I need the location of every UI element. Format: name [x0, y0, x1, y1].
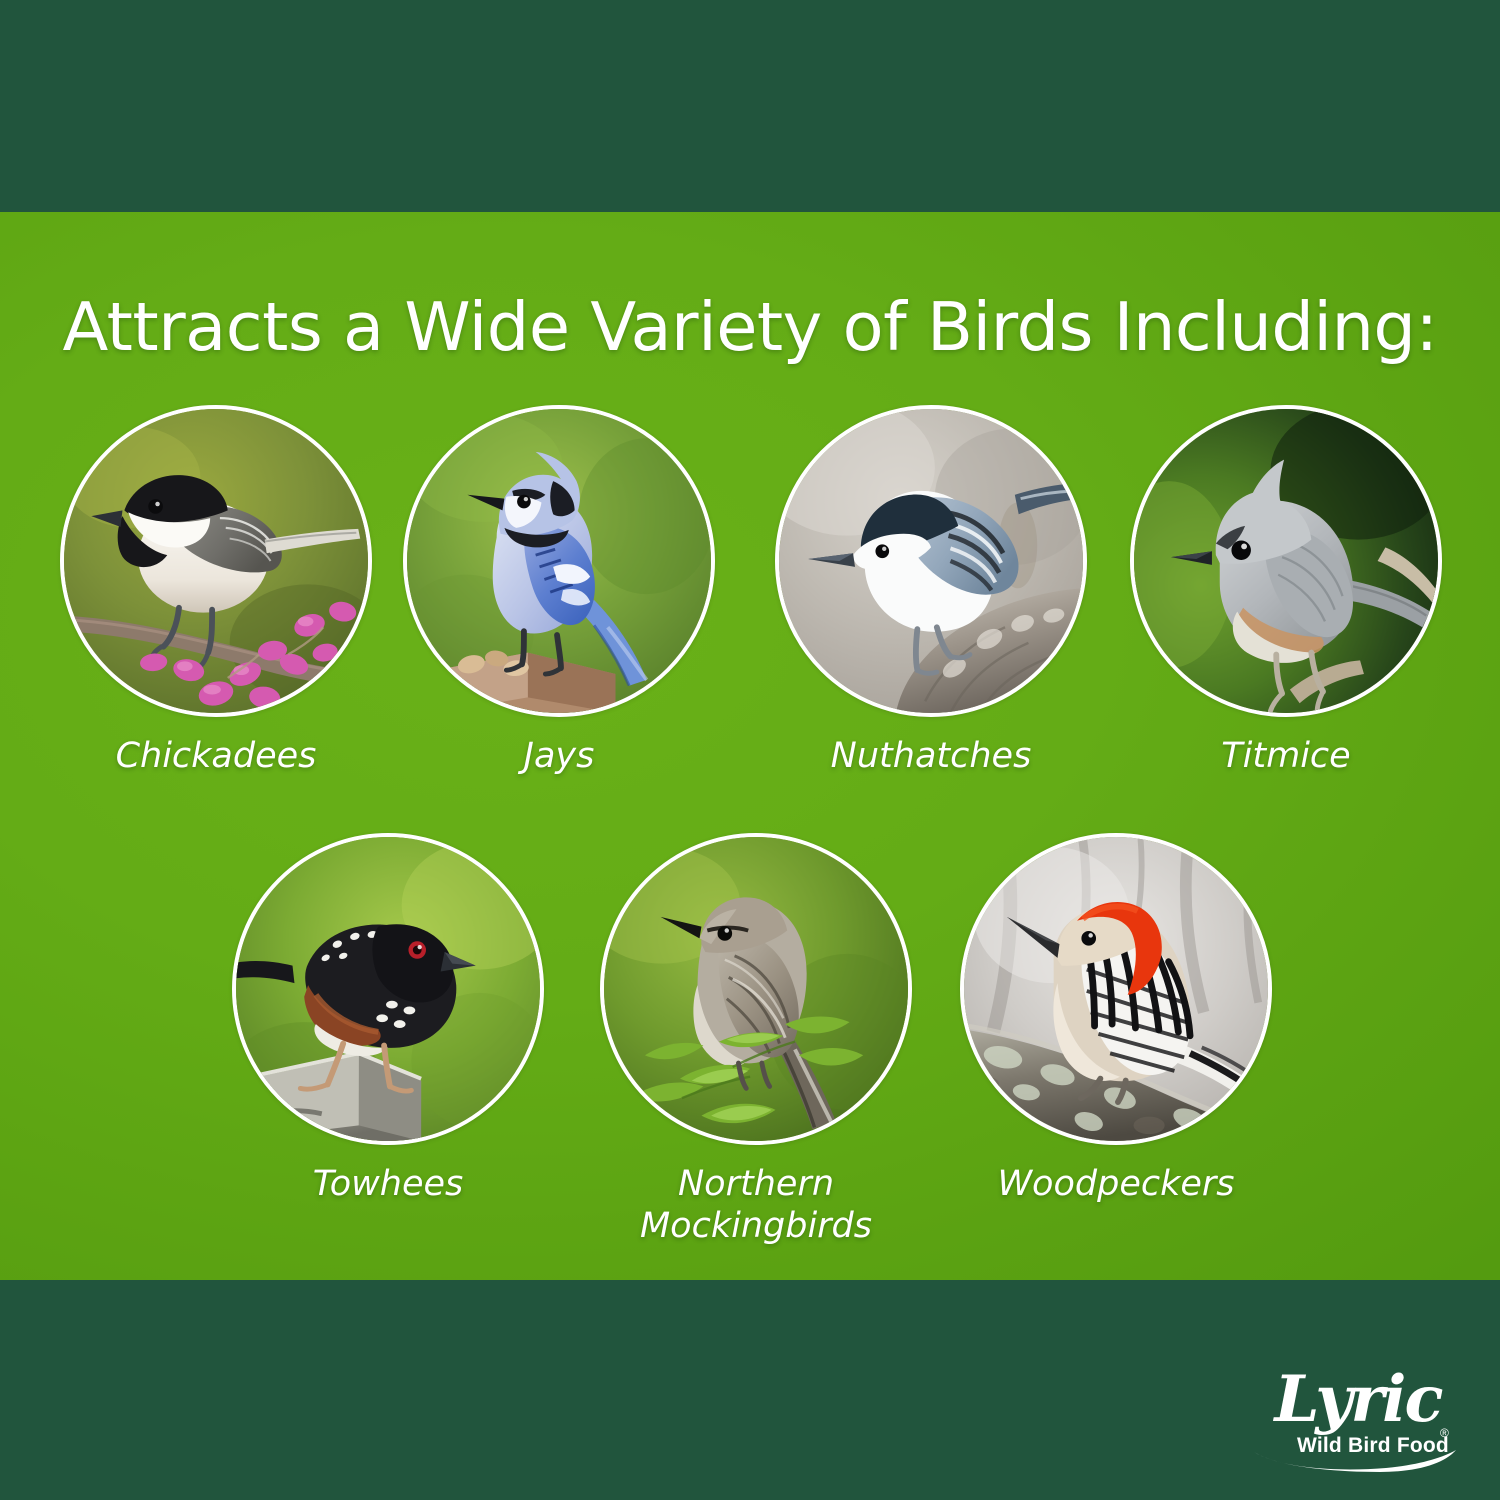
bird-label-woodpeckers: Woodpeckers: [900, 1163, 1332, 1205]
bird-label-titmice: Titmice: [1070, 735, 1500, 777]
page-title: Attracts a Wide Variety of Birds Includi…: [0, 288, 1500, 366]
woodpecker-photo: [960, 833, 1272, 1145]
bird-card-chickadees[interactable]: Chickadees: [60, 405, 372, 717]
lyric-logo[interactable]: Lyric ® Wild Bird Food: [1258, 1368, 1458, 1478]
towhee-photo: [232, 833, 544, 1145]
nuthatch-illustration: [779, 409, 1083, 713]
chickadee-illustration: [64, 409, 368, 713]
mockingbird-label-line1: Northern: [678, 1164, 834, 1204]
mockingbird-illustration: [604, 837, 908, 1141]
woodpecker-illustration: [964, 837, 1268, 1141]
bird-card-titmice[interactable]: Titmice: [1130, 405, 1442, 717]
bird-card-mockingbirds[interactable]: Northern Mockingbirds: [600, 833, 912, 1145]
bird-card-towhees[interactable]: Towhees: [232, 833, 544, 1145]
lyric-wordmark: Lyric: [1258, 1362, 1458, 1438]
nuthatch-photo: [775, 405, 1087, 717]
titmouse-illustration: [1134, 409, 1438, 713]
poster-root: Attracts a Wide Variety of Birds Includi…: [0, 0, 1500, 1500]
titmouse-photo: [1130, 405, 1442, 717]
mockingbird-photo: [600, 833, 912, 1145]
bird-card-nuthatches[interactable]: Nuthatches: [775, 405, 1087, 717]
lyric-swoosh-icon: [1252, 1446, 1458, 1472]
bird-card-woodpeckers[interactable]: Woodpeckers: [960, 833, 1272, 1145]
mockingbird-label-line2: Mockingbirds: [640, 1206, 872, 1246]
towhee-illustration: [236, 837, 540, 1141]
chickadee-photo: [60, 405, 372, 717]
blue-jay-photo: [403, 405, 715, 717]
blue-jay-illustration: [407, 409, 711, 713]
bird-card-jays[interactable]: Jays: [403, 405, 715, 717]
swoosh-shape: [1252, 1446, 1458, 1472]
top-dark-band: [0, 0, 1500, 212]
bird-label-jays: Jays: [343, 735, 775, 777]
